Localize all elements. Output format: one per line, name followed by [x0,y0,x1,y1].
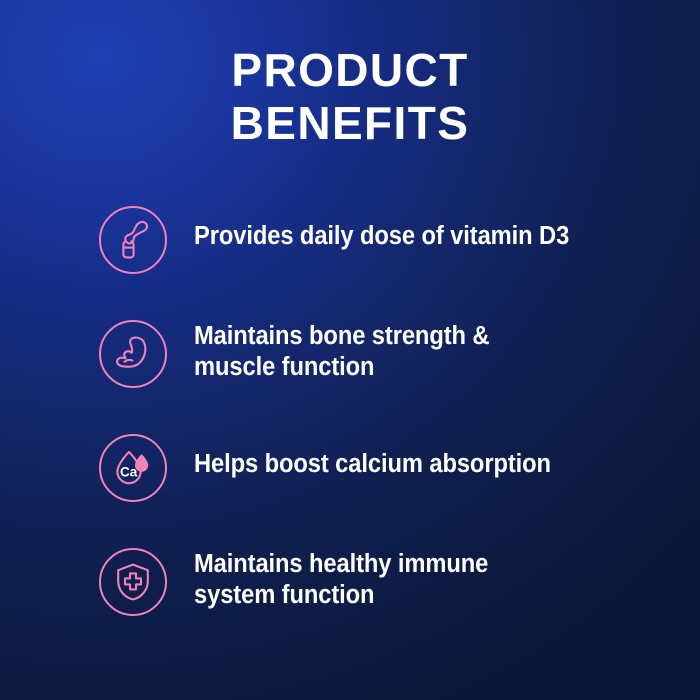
benefit-item: Maintains healthy immune system function [99,547,659,661]
page-title: PRODUCT BENEFITS [0,44,700,150]
benefit-label: Provides daily dose of vitamin D3 [194,205,569,252]
benefits-list: Provides daily dose of vitamin D3 Mainta… [99,205,659,661]
title-line-2: BENEFITS [120,97,580,150]
benefit-label: Maintains healthy immune system function [194,547,488,611]
benefit-label: Maintains bone strength & muscle functio… [194,319,489,383]
title-line-1: PRODUCT [120,44,580,97]
benefit-item: Maintains bone strength & muscle functio… [99,319,659,433]
flexed-bicep-muscle-icon [99,320,167,388]
benefit-item: Provides daily dose of vitamin D3 [99,205,659,319]
calcium-droplet-icon: Ca [99,434,167,502]
benefit-item: Ca Helps boost calcium absorption [99,433,659,547]
calcium-symbol-label: Ca [120,464,138,479]
product-benefits-poster: PRODUCT BENEFITS Provides daily dose of … [0,0,700,700]
knee-joint-bone-icon [99,206,167,274]
benefit-label: Helps boost calcium absorption [194,433,551,480]
shield-medical-cross-icon [99,548,167,616]
